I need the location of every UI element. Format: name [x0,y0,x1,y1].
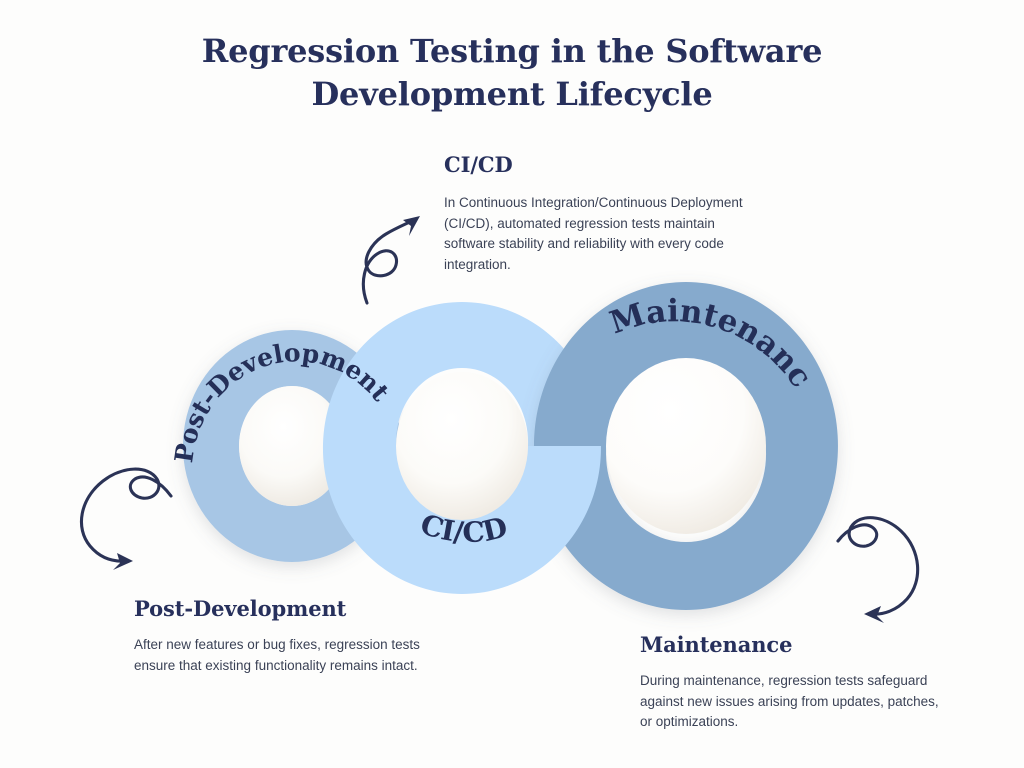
page-title-line-2: Development Lifecycle [0,73,1024,116]
arrow-cicd-icon [363,216,420,303]
page-title-line-1: Regression Testing in the Software [202,32,823,70]
callout-post-development-body: After new features or bug fixes, regress… [134,635,434,676]
callout-maintenance: Maintenance During maintenance, regressi… [640,632,940,733]
ring-maintenance [534,282,838,610]
callout-post-development: Post-Development After new features or b… [134,596,434,676]
callout-cicd-body: In Continuous Integration/Continuous Dep… [444,193,764,275]
ring-cicd-lower [323,302,601,594]
page-title: Regression Testing in the Software Devel… [0,30,1024,116]
callout-post-development-heading: Post-Development [134,596,434,621]
ring-cicd-upper [323,302,601,594]
infographic-canvas: Regression Testing in the Software Devel… [0,0,1024,768]
callout-maintenance-heading: Maintenance [640,632,940,657]
callout-cicd: CI/CD In Continuous Integration/Continuo… [444,152,764,275]
callout-cicd-heading: CI/CD [444,152,764,177]
arrow-post-development-icon [81,469,171,570]
callout-maintenance-body: During maintenance, regression tests saf… [640,671,940,733]
ring-label-cicd: CI/CD [416,507,510,549]
ring-cicd-hole [396,372,528,520]
ring-post-development [183,330,401,562]
ring-label-post-development: Post-Development [169,338,395,464]
arrow-maintenance-icon [838,518,918,623]
